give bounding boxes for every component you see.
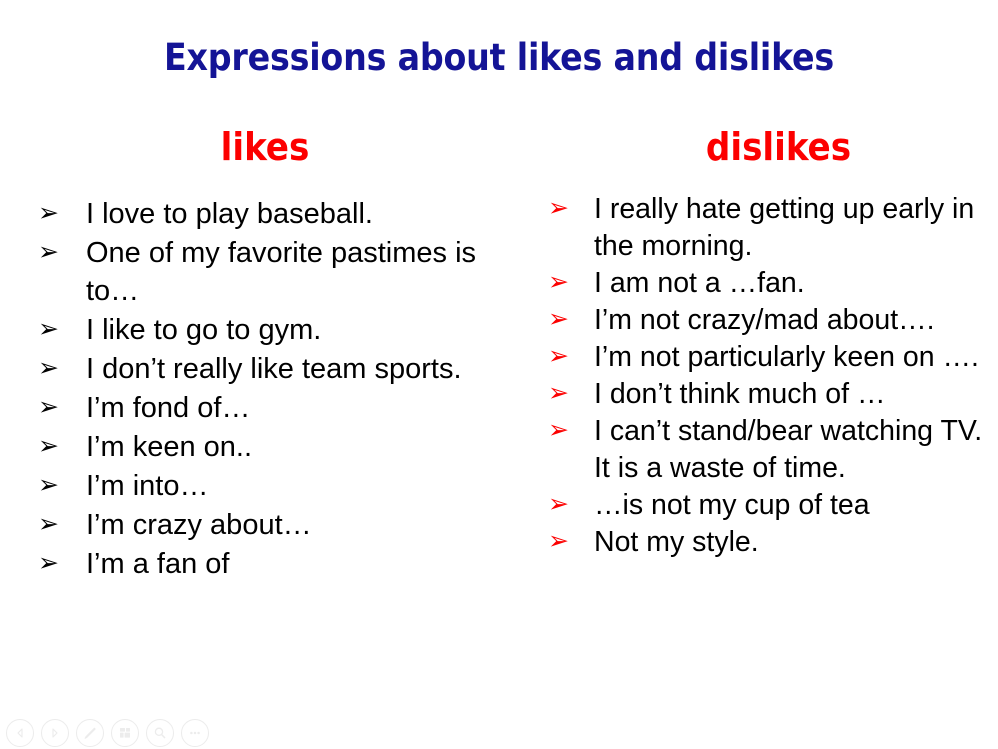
list-item-text: One of my favorite pastimes is to… xyxy=(86,235,500,311)
list-item-text: I’m keen on.. xyxy=(86,429,500,467)
arrow-bullet-icon: ➢ xyxy=(548,303,569,336)
list-item-text: I can’t stand/bear watching TV. It is a … xyxy=(594,413,995,487)
arrow-bullet-icon: ➢ xyxy=(38,313,59,346)
list-item-text: Not my style. xyxy=(594,524,995,561)
list-item: ➢ I am not a …fan. xyxy=(548,265,995,302)
likes-bullet-list: ➢ I love to play baseball. ➢ One of my f… xyxy=(30,196,500,584)
list-item-text: I really hate getting up early in the mo… xyxy=(594,191,995,265)
list-item: ➢ …is not my cup of tea xyxy=(548,487,995,524)
list-item-text: I’m a fan of xyxy=(86,546,500,584)
arrow-bullet-icon: ➢ xyxy=(548,266,569,299)
arrow-bullet-icon: ➢ xyxy=(38,430,59,463)
list-item: ➢ I’m a fan of xyxy=(38,546,500,584)
triangle-right-icon xyxy=(48,726,62,740)
list-item-text: I love to play baseball. xyxy=(86,196,500,234)
list-item: ➢ I like to go to gym. xyxy=(38,312,500,350)
ellipsis-icon xyxy=(187,725,203,741)
list-item-text: …is not my cup of tea xyxy=(594,487,995,524)
list-item: ➢ I love to play baseball. xyxy=(38,196,500,234)
next-slide-button[interactable] xyxy=(41,719,69,747)
all-slides-button[interactable] xyxy=(111,719,139,747)
pen-icon xyxy=(82,725,98,741)
list-item-text: I’m crazy about… xyxy=(86,507,500,545)
list-item: ➢ I’m crazy about… xyxy=(38,507,500,545)
arrow-bullet-icon: ➢ xyxy=(548,525,569,558)
pen-tool-button[interactable] xyxy=(76,719,104,747)
likes-heading: likes xyxy=(30,128,500,166)
list-item-text: I’m fond of… xyxy=(86,390,500,428)
list-item: ➢ I don’t think much of … xyxy=(548,376,995,413)
presentation-slide: Expressions about likes and dislikes lik… xyxy=(0,0,998,749)
list-item-text: I don’t think much of … xyxy=(594,376,995,413)
triangle-left-icon xyxy=(13,726,27,740)
list-item: ➢ I’m into… xyxy=(38,468,500,506)
arrow-bullet-icon: ➢ xyxy=(548,377,569,410)
list-item: ➢ I really hate getting up early in the … xyxy=(548,191,995,265)
dislikes-column: dislikes ➢ I really hate getting up earl… xyxy=(540,128,995,561)
arrow-bullet-icon: ➢ xyxy=(38,547,59,580)
list-item: ➢ I’m fond of… xyxy=(38,390,500,428)
list-item-text: I’m not crazy/mad about…. xyxy=(594,302,995,339)
arrow-bullet-icon: ➢ xyxy=(38,391,59,424)
list-item-text: I’m into… xyxy=(86,468,500,506)
page-title: Expressions about likes and dislikes xyxy=(0,36,998,79)
list-item-text: I am not a …fan. xyxy=(594,265,995,302)
slideshow-control-bar xyxy=(6,719,209,747)
list-item: ➢ I can’t stand/bear watching TV. It is … xyxy=(548,413,995,487)
arrow-bullet-icon: ➢ xyxy=(38,508,59,541)
arrow-bullet-icon: ➢ xyxy=(548,340,569,373)
list-item: ➢ One of my favorite pastimes is to… xyxy=(38,235,500,311)
dislikes-bullet-list: ➢ I really hate getting up early in the … xyxy=(540,191,995,561)
arrow-bullet-icon: ➢ xyxy=(548,192,569,225)
list-item: ➢ I’m keen on.. xyxy=(38,429,500,467)
arrow-bullet-icon: ➢ xyxy=(548,488,569,521)
likes-column: likes ➢ I love to play baseball. ➢ One o… xyxy=(30,128,500,585)
slides-grid-icon xyxy=(117,725,133,741)
magnifier-icon xyxy=(152,725,168,741)
list-item-text: I’m not particularly keen on …. xyxy=(594,339,995,376)
arrow-bullet-icon: ➢ xyxy=(38,236,59,269)
list-item: ➢ I’m not crazy/mad about…. xyxy=(548,302,995,339)
dislikes-heading: dislikes xyxy=(540,128,995,166)
arrow-bullet-icon: ➢ xyxy=(38,352,59,385)
arrow-bullet-icon: ➢ xyxy=(38,197,59,230)
arrow-bullet-icon: ➢ xyxy=(548,414,569,447)
list-item: ➢ I’m not particularly keen on …. xyxy=(548,339,995,376)
previous-slide-button[interactable] xyxy=(6,719,34,747)
more-options-button[interactable] xyxy=(181,719,209,747)
arrow-bullet-icon: ➢ xyxy=(38,469,59,502)
list-item-text: I like to go to gym. xyxy=(86,312,500,350)
list-item-text: I don’t really like team sports. xyxy=(86,351,500,389)
zoom-button[interactable] xyxy=(146,719,174,747)
list-item: ➢ I don’t really like team sports. xyxy=(38,351,500,389)
list-item: ➢ Not my style. xyxy=(548,524,995,561)
